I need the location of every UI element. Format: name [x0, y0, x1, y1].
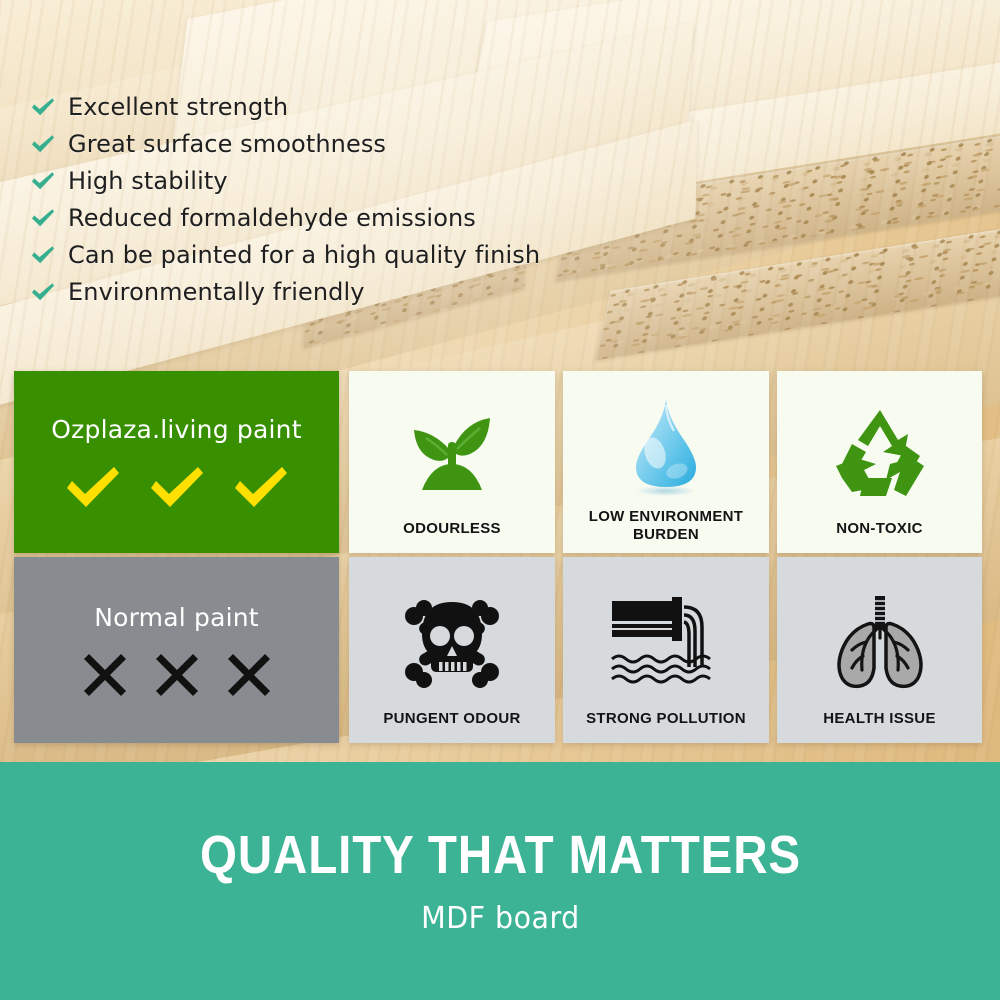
banner-subtitle: MDF board: [421, 904, 580, 934]
card-icon-container: [777, 387, 982, 520]
plant-sprout-icon: [400, 402, 504, 506]
skull-crossbones-icon: [397, 594, 507, 690]
card-label: LOW ENVIRONMENT BURDEN: [563, 508, 769, 554]
card-label: PUNGENT ODOUR: [375, 710, 528, 743]
card-label: STRONG POLLUTION: [578, 710, 754, 743]
cross-icon: [82, 652, 128, 698]
card-icon-container: [777, 573, 982, 710]
card-health-issue: HEALTH ISSUE: [777, 557, 982, 743]
water-droplet-icon: [624, 395, 708, 499]
panel-title: Normal paint: [94, 603, 259, 632]
cross-icon: [154, 652, 200, 698]
card-odourless: ODOURLESS: [349, 371, 555, 553]
comparison-grid: Ozplaza.living paint Normal paint: [0, 0, 1000, 765]
banner-title: QUALITY THAT MATTERS: [199, 828, 800, 882]
cross-mark-row: [82, 652, 272, 698]
infographic-page: Excellent strength Great surface smoothn…: [0, 0, 1000, 1000]
card-non-toxic: NON-TOXIC: [777, 371, 982, 553]
card-icon-container: [349, 573, 555, 710]
lungs-icon: [828, 592, 932, 692]
card-icon-container: [349, 387, 555, 520]
normal-paint-panel: Normal paint: [14, 557, 339, 743]
pipe-pollution-icon: [606, 595, 726, 689]
card-icon-container: [563, 573, 769, 710]
tick-icon: [64, 464, 122, 510]
card-icon-container: [563, 387, 769, 508]
card-pungent-odour: PUNGENT ODOUR: [349, 557, 555, 743]
tick-icon: [232, 464, 290, 510]
card-label: NON-TOXIC: [828, 520, 931, 553]
tick-icon: [148, 464, 206, 510]
card-label: ODOURLESS: [395, 520, 509, 553]
panel-title: Ozplaza.living paint: [51, 415, 301, 444]
card-low-environment-burden: LOW ENVIRONMENT BURDEN: [563, 371, 769, 553]
bottom-banner: QUALITY THAT MATTERS MDF board: [0, 762, 1000, 1000]
recycle-icon: [828, 404, 932, 504]
card-strong-pollution: STRONG POLLUTION: [563, 557, 769, 743]
ozplaza-paint-panel: Ozplaza.living paint: [14, 371, 339, 553]
tick-mark-row: [64, 464, 290, 510]
cross-icon: [226, 652, 272, 698]
card-label: HEALTH ISSUE: [815, 710, 944, 743]
